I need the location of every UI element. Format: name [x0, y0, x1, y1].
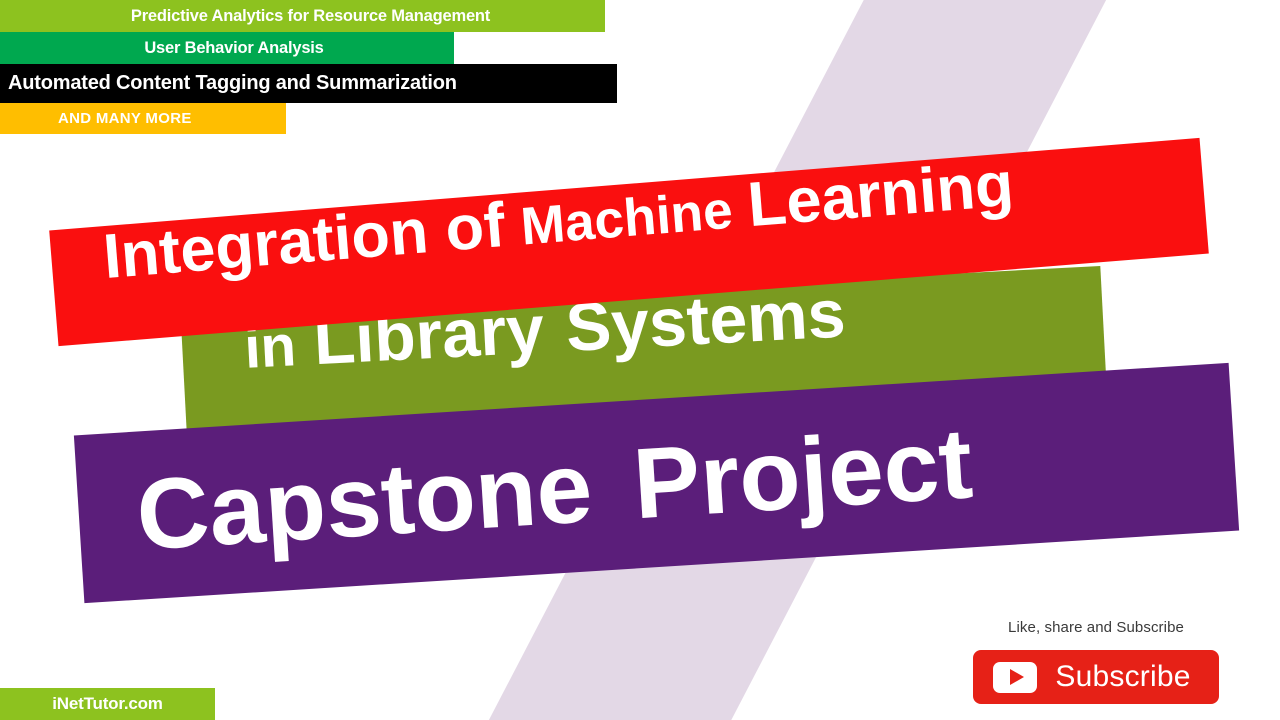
play-triangle-icon — [1010, 669, 1024, 685]
brand-label: iNetTutor.com — [52, 694, 162, 714]
banner-label-user-behavior: User Behavior Analysis — [144, 39, 323, 58]
banner-label-predictive-analytics: Predictive Analytics for Resource Manage… — [131, 7, 490, 26]
title-line-1-part-2: Machine — [519, 184, 735, 254]
banner-label-content-tagging: Automated Content Tagging and Summarizat… — [8, 72, 457, 95]
banner-item-predictive-analytics: Predictive Analytics for Resource Manage… — [0, 0, 605, 32]
banner-item-and-many-more: AND MANY MORE — [0, 103, 286, 134]
subscribe-cta-block: Like, share and Subscribe Subscribe — [946, 619, 1246, 704]
banner-item-content-tagging: Automated Content Tagging and Summarizat… — [0, 64, 617, 103]
title-line-1-part-1: Integration of — [101, 194, 507, 289]
slide-canvas: Predictive Analytics for Resource Manage… — [0, 0, 1280, 720]
like-share-text: Like, share and Subscribe — [946, 619, 1246, 636]
title-line-3-part-1: Capstone — [134, 437, 595, 565]
subscribe-button[interactable]: Subscribe — [973, 650, 1218, 704]
banner-item-user-behavior: User Behavior Analysis — [0, 32, 454, 64]
title-line-3-part-2: Project — [631, 413, 976, 534]
banner-label-and-many-more: AND MANY MORE — [58, 110, 192, 127]
brand-footer-band: iNetTutor.com — [0, 688, 215, 720]
subscribe-button-label: Subscribe — [1055, 660, 1190, 694]
youtube-play-icon — [993, 662, 1037, 693]
